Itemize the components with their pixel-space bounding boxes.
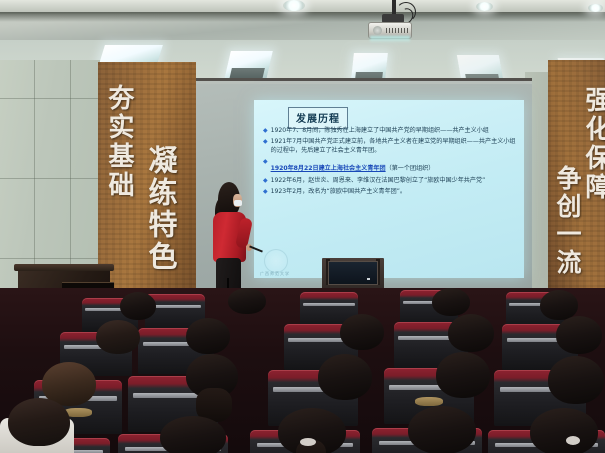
audience-hair-tie [300,438,316,446]
bullet-marker-icon: ◆ [263,176,268,186]
slide-bullet-item: ◆ 1922年6月，赵世炎、周恩来、李维汉在法国巴黎创立了“旅欧中国少年共产党” [263,176,517,186]
audience-head [530,408,598,453]
left-banner-text-line2: 凝练特色 [140,145,182,273]
audience-head [436,352,490,398]
ceiling-downlight [588,4,603,12]
ceiling-shadow-line [0,12,605,22]
audience-area [0,288,605,453]
audience-head [340,314,384,350]
audience-head [448,314,494,352]
audience-head [228,288,266,314]
audience-head [120,292,156,320]
ceiling-downlight [476,2,493,11]
slide-bullet-item: ◆ 1923年2月，改名为“旅欧中国共产主义青年团”。 [263,187,517,197]
slide-logo-caption: 广西师范大学 [260,271,290,277]
seat-number-plate [415,397,444,406]
bullet-marker-icon: ◆ [263,126,268,136]
audience-head [432,288,470,316]
ceiling-downlight [283,0,305,11]
presentation-slide: 发展历程 ◆ 1920年7、8月间，陈独秀在上海建立了中国共产党的早期组织——共… [254,100,524,278]
audience-head [186,318,230,354]
slide-bullet-text-suffix: （第一个团组织） [386,165,435,172]
monitor-power-led-icon [367,278,370,280]
right-banner-text-line2: 争创一流 [549,165,585,277]
slide-bullet-text: 1921年7月中国共产党正式建立前，各地共产主义者在建立党的早期组织——共产主义… [271,137,517,156]
slide-bullet-text-highlighted: 1920年8月22日建立上海社会主义青年团 [271,165,386,172]
bullet-marker-icon: ◆ [263,137,268,147]
audience-head [540,290,578,320]
audience-hair-tie [566,436,580,445]
podium-top-surface [14,264,114,271]
slide-university-logo-icon [264,249,288,273]
lectern-monitor [328,261,378,285]
lecture-hall-photo: 夯实基础 凝练特色 强化保障 争创一流 发展历程 ◆ 1920年7、8月间，陈独… [0,0,605,453]
bullet-marker-icon: ◆ [263,157,268,167]
slide-bullet-list: ◆ 1920年7、8月间，陈独秀在上海建立了中国共产党的早期组织——共产主义小组… [263,126,517,198]
audience-head [408,406,476,453]
slide-bullet-item-highlighted: ◆ 1920年8月22日建立上海社会主义青年团（第一个团组织） [263,157,517,175]
projector-light-glow [370,36,410,43]
audience-head [556,316,602,354]
projector-lens-icon [373,26,382,35]
presenter-face-mask [234,200,242,206]
lectern [322,258,384,292]
audience-head [160,416,226,453]
slide-bullet-text: 1920年7、8月间，陈独秀在上海建立了中国共产党的早期组织——共产主义小组 [271,126,489,135]
audience-head [318,354,372,400]
slide-title: 发展历程 [296,114,340,125]
slide-bullet-item: ◆ 1921年7月中国共产党正式建立前，各地共产主义者在建立党的早期组织——共产… [263,137,517,156]
projector-vent [386,28,408,33]
slide-bullet-text: 1923年2月，改名为“旅欧中国共产主义青年团”。 [271,187,406,196]
audience-head [548,356,604,404]
left-banner-text-line1: 夯实基础 [101,84,138,200]
slide-bullet-item: ◆ 1920年7、8月间，陈独秀在上海建立了中国共产党的早期组织——共产主义小组 [263,126,517,136]
slide-bullet-text: 1922年6月，赵世炎、周恩来、李维汉在法国巴黎创立了“旅欧中国少年共产党” [271,176,486,185]
audience-head [8,398,70,446]
bullet-marker-icon: ◆ [263,187,268,197]
audience-head [96,320,140,354]
